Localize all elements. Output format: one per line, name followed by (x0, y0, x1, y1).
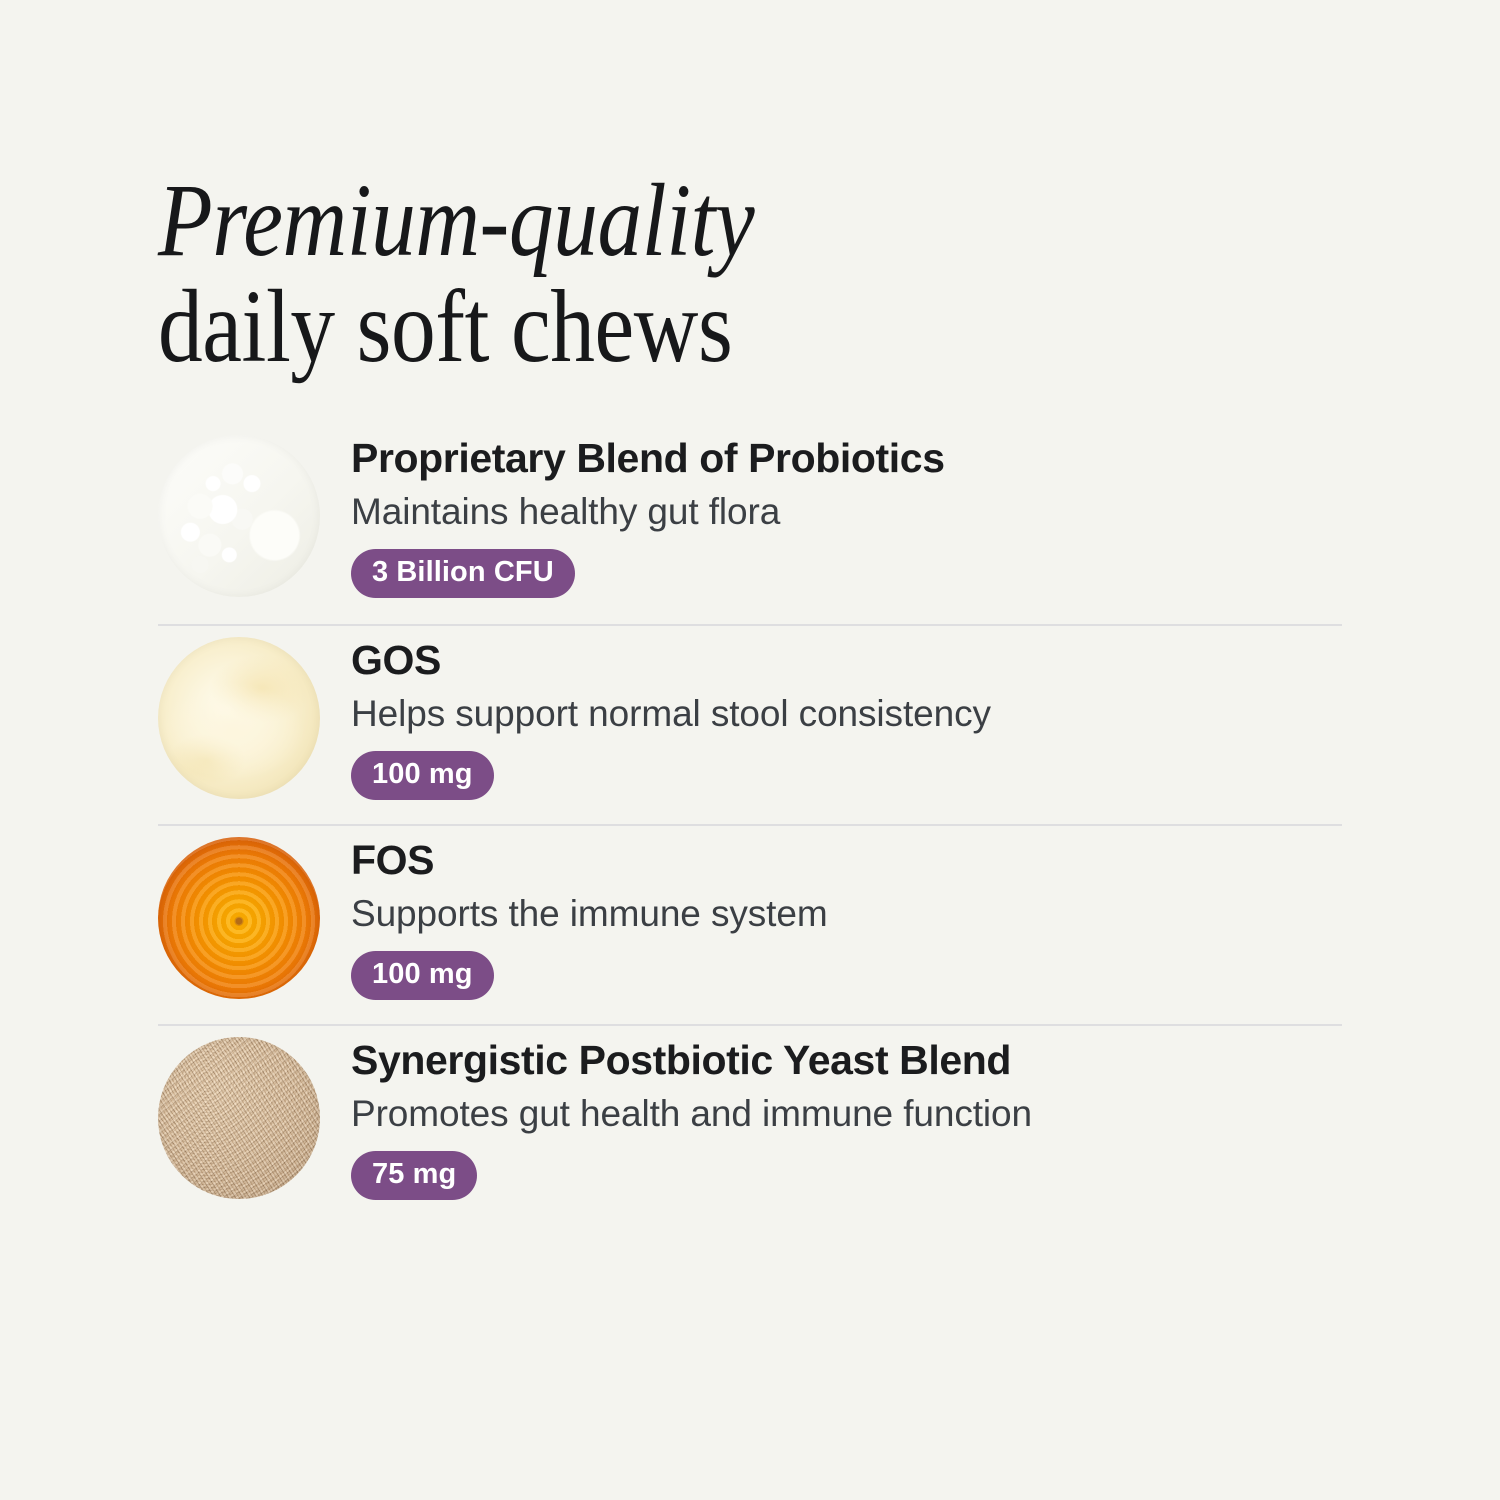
ingredient-list: Proprietary Blend of Probiotics Maintain… (158, 424, 1342, 1224)
kefir-swatch-icon (158, 435, 320, 597)
product-benefits-page: Premium-quality daily soft chews Proprie… (0, 0, 1500, 1500)
ingredient-name: FOS (351, 839, 1342, 882)
ingredient-name: Synergistic Postbiotic Yeast Blend (351, 1039, 1342, 1082)
ingredient-description: Maintains healthy gut flora (351, 492, 1342, 533)
dose-badge: 75 mg (351, 1151, 477, 1199)
yeast-granules-swatch-icon (158, 1037, 320, 1199)
ingredient-name: GOS (351, 639, 1342, 682)
ingredient-description: Helps support normal stool consistency (351, 694, 1342, 735)
page-title: Premium-quality daily soft chews (158, 171, 1338, 377)
ingredient-description: Promotes gut health and immune function (351, 1094, 1342, 1135)
dose-badge: 100 mg (351, 951, 494, 999)
chicory-root-swatch-icon (158, 837, 320, 999)
ingredient-row: Synergistic Postbiotic Yeast Blend Promo… (158, 1024, 1342, 1224)
ingredient-row: FOS Supports the immune system 100 mg (158, 824, 1342, 1024)
ingredient-text-block: GOS Helps support normal stool consisten… (351, 637, 1342, 800)
dose-badge: 3 Billion CFU (351, 549, 575, 597)
ingredient-row: Proprietary Blend of Probiotics Maintain… (158, 424, 1342, 624)
ingredient-row: GOS Helps support normal stool consisten… (158, 624, 1342, 824)
ingredient-text-block: Proprietary Blend of Probiotics Maintain… (351, 435, 1342, 598)
ingredient-text-block: Synergistic Postbiotic Yeast Blend Promo… (351, 1037, 1342, 1200)
ingredient-name: Proprietary Blend of Probiotics (351, 437, 1342, 480)
dose-badge: 100 mg (351, 751, 494, 799)
ingredient-text-block: FOS Supports the immune system 100 mg (351, 837, 1342, 1000)
cream-swatch-icon (158, 637, 320, 799)
page-title-line-1: Premium-quality (158, 171, 1173, 271)
page-title-line-2: daily soft chews (158, 277, 1173, 377)
ingredient-description: Supports the immune system (351, 894, 1342, 935)
